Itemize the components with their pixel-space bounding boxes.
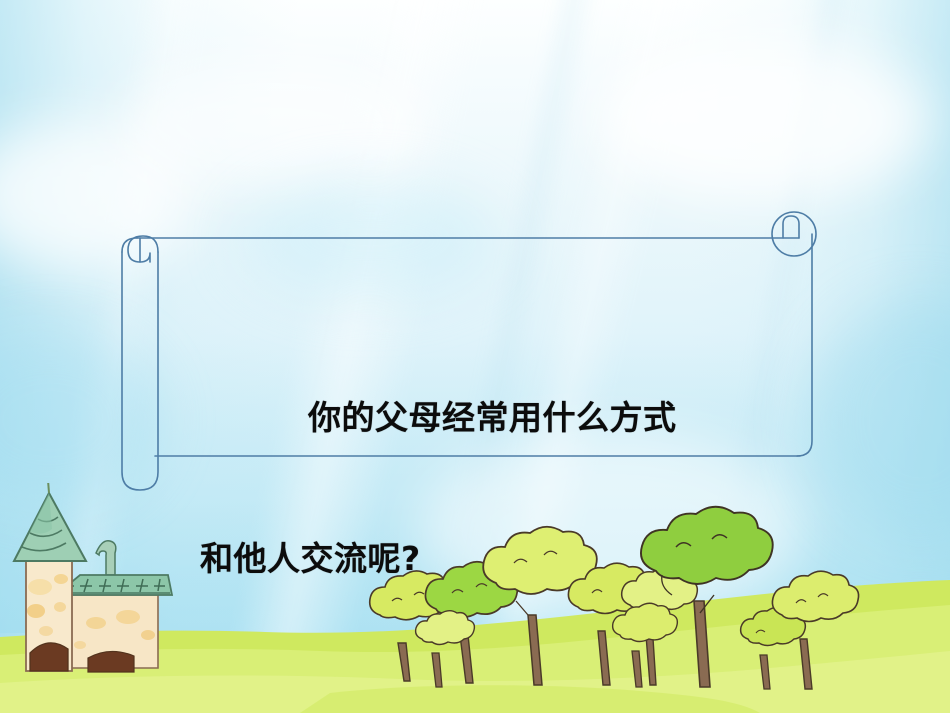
- cottage-illustration: [14, 483, 172, 672]
- title-line-1: 你的父母经常用什么方式: [190, 394, 810, 441]
- tree-line-illustration: [370, 507, 859, 689]
- slide-canvas: 你的父母经常用什么方式 和他人交流呢?: [0, 0, 950, 713]
- scenery-layer: [0, 483, 950, 713]
